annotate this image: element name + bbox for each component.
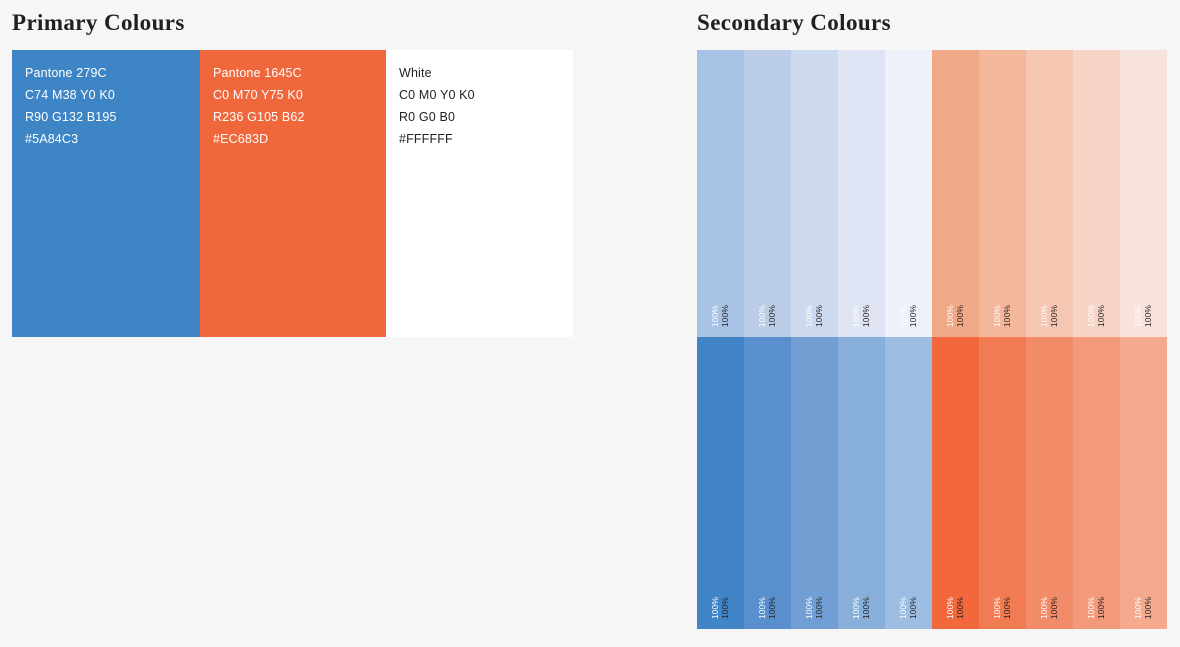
secondary-column-orange-tint-1: 100%100%100%100% (932, 50, 979, 629)
tint-percentage-label-light: 100% (1087, 597, 1096, 619)
secondary-column-blue-tint-4: 100%100%100%100% (838, 50, 885, 629)
swatch-pantone-name: Pantone 279C (25, 62, 187, 84)
tint-percentage-label-light: 100% (899, 597, 908, 619)
tint-label-group: 100%100% (1073, 597, 1120, 619)
secondary-column-blue-tint-1: 100%100%100%100% (697, 50, 744, 629)
tint-label-group: 100%100% (1026, 597, 1073, 619)
secondary-column-blue-tint-3: 100%100%100%100% (791, 50, 838, 629)
swatch-hex-value: #EC683D (213, 128, 373, 150)
tint-label-group: 100%100% (1120, 305, 1167, 327)
tint-percentage-label-dark: 100% (1050, 597, 1059, 619)
secondary-swatch-orange-tint-5-top: 100%100% (1120, 50, 1167, 337)
secondary-swatch-blue-tint-3-top: 100%100% (791, 50, 838, 337)
tint-label-group: 100%100% (697, 305, 744, 327)
secondary-swatch-blue-tint-5-bottom: 100%100% (885, 337, 932, 629)
tint-percentage-label-light: 100% (1087, 305, 1096, 327)
tint-label-group: 100%100% (932, 597, 979, 619)
tint-percentage-label-light: 100% (993, 305, 1002, 327)
tint-label-group: 100%100% (1120, 597, 1167, 619)
secondary-swatch-orange-tint-1-top: 100%100% (932, 50, 979, 337)
secondary-swatch-orange-tint-4-bottom: 100%100% (1073, 337, 1120, 629)
primary-swatch-blue: Pantone 279C C74 M38 Y0 K0 R90 G132 B195… (12, 50, 200, 337)
swatch-cmyk-value: C0 M0 Y0 K0 (399, 84, 560, 106)
secondary-column-orange-tint-5: 100%100%100%100% (1120, 50, 1167, 629)
tint-percentage-label-light: 100% (758, 305, 767, 327)
secondary-swatch-orange-tint-5-bottom: 100%100% (1120, 337, 1167, 629)
tint-percentage-label-light: 100% (1134, 305, 1143, 327)
tint-percentage-label-dark: 100% (1097, 305, 1106, 327)
tint-percentage-label-light: 100% (1040, 305, 1049, 327)
secondary-swatch-orange-tint-4-top: 100%100% (1073, 50, 1120, 337)
tint-label-group: 100%100% (885, 597, 932, 619)
secondary-swatch-blue-tint-3-bottom: 100%100% (791, 337, 838, 629)
tint-percentage-label-dark: 100% (956, 305, 965, 327)
tint-percentage-label-light: 100% (711, 305, 720, 327)
swatch-cmyk-value: C0 M70 Y75 K0 (213, 84, 373, 106)
swatch-hex-value: #FFFFFF (399, 128, 560, 150)
tint-percentage-label-dark: 100% (862, 597, 871, 619)
tint-percentage-label-dark: 100% (1050, 305, 1059, 327)
tint-percentage-label-dark: 100% (956, 597, 965, 619)
secondary-swatch-blue-tint-2-bottom: 100%100% (744, 337, 791, 629)
tint-label-group: 100%100% (791, 597, 838, 619)
secondary-swatch-orange-tint-3-top: 100%100% (1026, 50, 1073, 337)
secondary-column-blue-tint-5: 100%100%100%100% (885, 50, 932, 629)
swatch-hex-value: #5A84C3 (25, 128, 187, 150)
secondary-swatch-orange-tint-1-bottom: 100%100% (932, 337, 979, 629)
tint-percentage-label-dark: 100% (768, 305, 777, 327)
secondary-swatch-blue-tint-1-bottom: 100%100% (697, 337, 744, 629)
tint-label-group: 100%100% (1073, 305, 1120, 327)
tint-percentage-label-light: 100% (852, 597, 861, 619)
tint-percentage-label-light: 100% (946, 305, 955, 327)
secondary-colours-title: Secondary Colours (697, 10, 891, 36)
tint-label-group: 100%100% (979, 305, 1026, 327)
tint-percentage-label-dark: 100% (721, 305, 730, 327)
swatch-rgb-value: R236 G105 B62 (213, 106, 373, 128)
tint-percentage-label-dark: 100% (1003, 597, 1012, 619)
secondary-swatch-blue-tint-2-top: 100%100% (744, 50, 791, 337)
tint-percentage-label-dark: 100% (1003, 305, 1012, 327)
primary-swatch-orange: Pantone 1645C C0 M70 Y75 K0 R236 G105 B6… (200, 50, 386, 337)
swatch-pantone-name: White (399, 62, 560, 84)
tint-percentage-label-light: 100% (805, 597, 814, 619)
tint-label-group: 100%100% (932, 305, 979, 327)
tint-label-group: 100%100% (744, 597, 791, 619)
tint-percentage-label-dark: 100% (768, 597, 777, 619)
tint-percentage-label-dark: 100% (862, 305, 871, 327)
tint-label-group: 100%100% (1026, 305, 1073, 327)
tint-label-group: 100%100% (697, 597, 744, 619)
tint-label-group: 100%100% (838, 597, 885, 619)
tint-percentage-label-light: 100% (805, 305, 814, 327)
secondary-column-orange-tint-4: 100%100%100%100% (1073, 50, 1120, 629)
tint-percentage-label-dark: 100% (721, 597, 730, 619)
swatch-rgb-value: R90 G132 B195 (25, 106, 187, 128)
secondary-swatch-blue-tint-4-top: 100%100% (838, 50, 885, 337)
tint-percentage-label-light: 100% (899, 305, 908, 327)
tint-percentage-label-dark: 100% (909, 597, 918, 619)
tint-label-group: 100%100% (979, 597, 1026, 619)
secondary-colours-block: 100%100%100%100%100%100%100%100%100%100%… (697, 50, 1167, 629)
tint-percentage-label-dark: 100% (1144, 597, 1153, 619)
tint-label-group: 100%100% (838, 305, 885, 327)
secondary-swatch-blue-tint-5-top: 100%100% (885, 50, 932, 337)
swatch-cmyk-value: C74 M38 Y0 K0 (25, 84, 187, 106)
tint-percentage-label-light: 100% (993, 597, 1002, 619)
tint-percentage-label-light: 100% (852, 305, 861, 327)
tint-percentage-label-dark: 100% (1097, 597, 1106, 619)
tint-percentage-label-dark: 100% (909, 305, 918, 327)
tint-percentage-label-light: 100% (1040, 597, 1049, 619)
tint-label-group: 100%100% (885, 305, 932, 327)
primary-swatch-white: White C0 M0 Y0 K0 R0 G0 B0 #FFFFFF (386, 50, 573, 337)
tint-percentage-label-dark: 100% (1144, 305, 1153, 327)
secondary-swatch-orange-tint-2-top: 100%100% (979, 50, 1026, 337)
secondary-column-blue-tint-2: 100%100%100%100% (744, 50, 791, 629)
secondary-swatch-orange-tint-2-bottom: 100%100% (979, 337, 1026, 629)
colour-palette-page: Primary Colours Pantone 279C C74 M38 Y0 … (0, 0, 1180, 647)
tint-percentage-label-light: 100% (758, 597, 767, 619)
secondary-swatch-orange-tint-3-bottom: 100%100% (1026, 337, 1073, 629)
tint-percentage-label-light: 100% (946, 597, 955, 619)
tint-label-group: 100%100% (791, 305, 838, 327)
swatch-pantone-name: Pantone 1645C (213, 62, 373, 84)
tint-label-group: 100%100% (744, 305, 791, 327)
tint-percentage-label-light: 100% (1134, 597, 1143, 619)
secondary-column-orange-tint-2: 100%100%100%100% (979, 50, 1026, 629)
swatch-rgb-value: R0 G0 B0 (399, 106, 560, 128)
tint-percentage-label-light: 100% (711, 597, 720, 619)
primary-colours-title: Primary Colours (12, 10, 185, 36)
primary-colours-block: Pantone 279C C74 M38 Y0 K0 R90 G132 B195… (12, 50, 573, 337)
secondary-swatch-blue-tint-4-bottom: 100%100% (838, 337, 885, 629)
secondary-swatch-blue-tint-1-top: 100%100% (697, 50, 744, 337)
tint-percentage-label-dark: 100% (815, 305, 824, 327)
tint-percentage-label-dark: 100% (815, 597, 824, 619)
secondary-column-orange-tint-3: 100%100%100%100% (1026, 50, 1073, 629)
